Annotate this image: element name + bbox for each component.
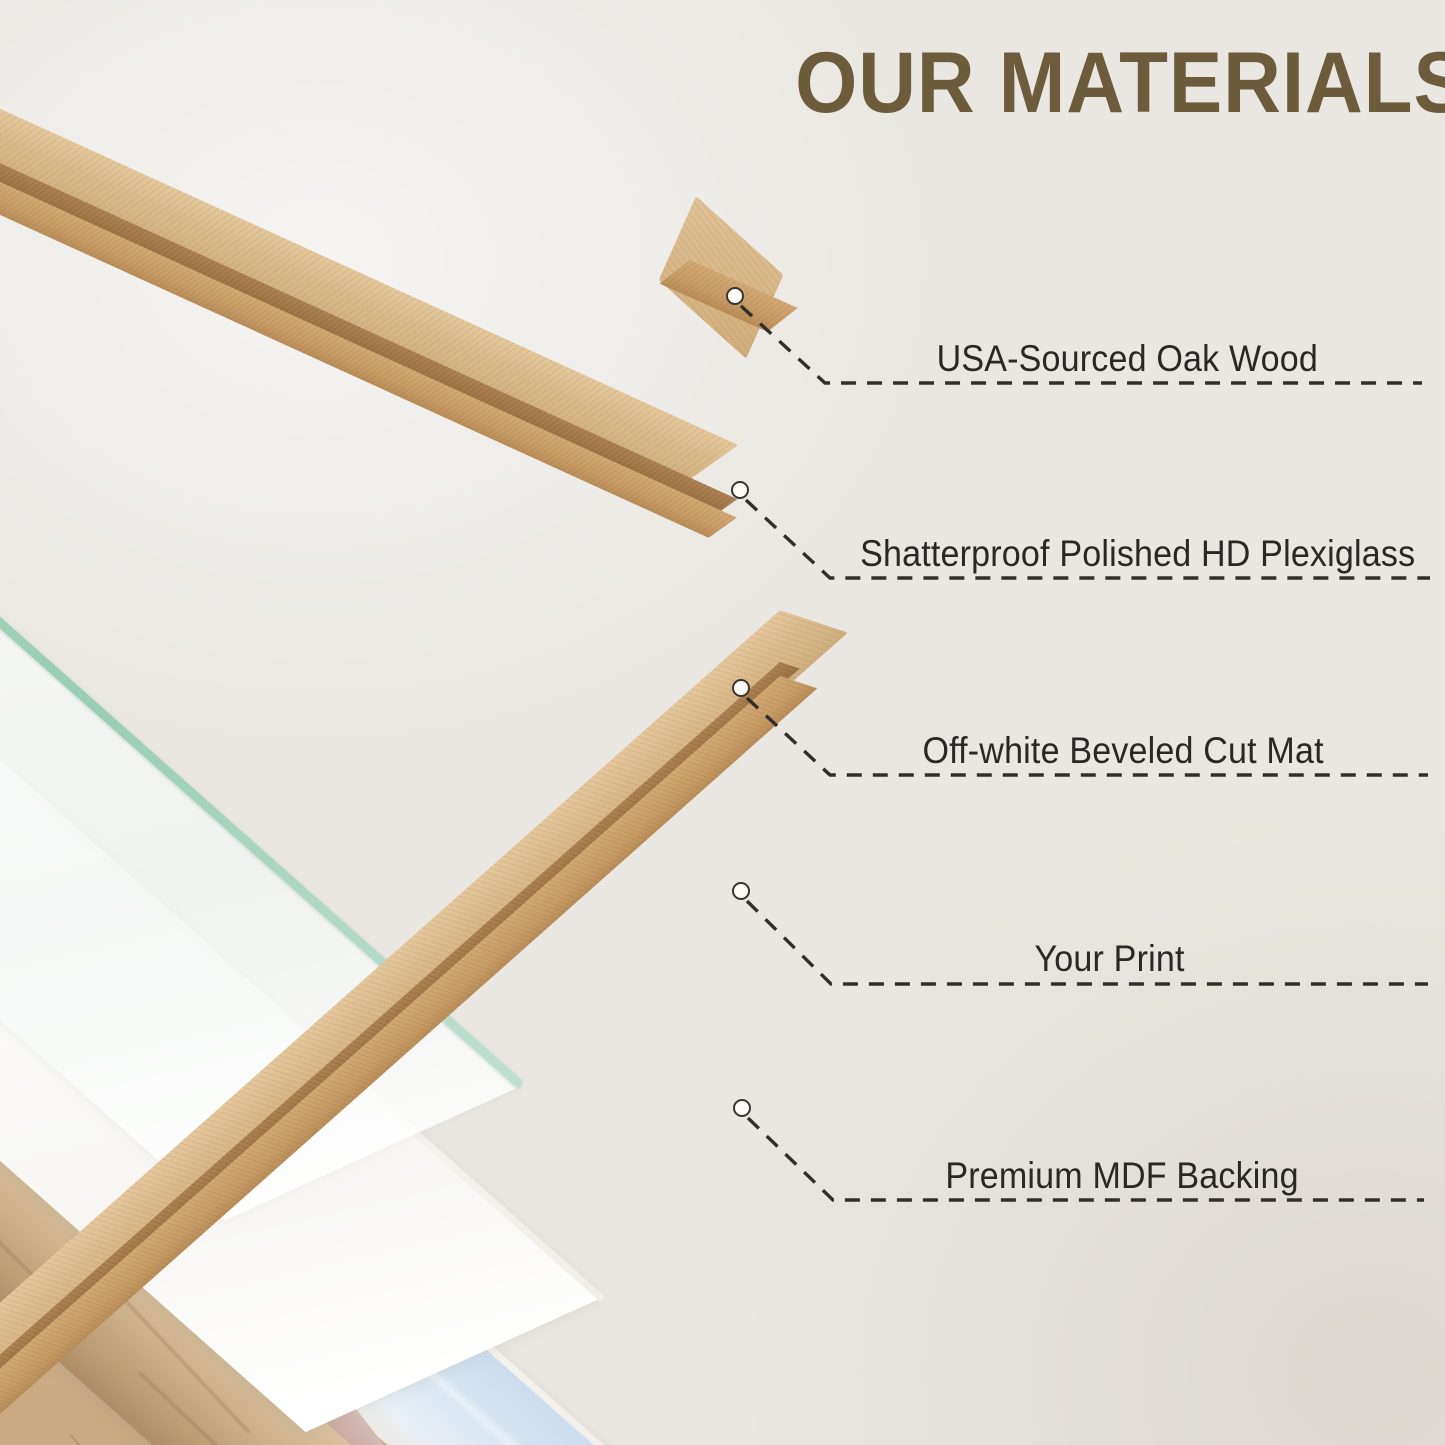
product-exploded-view bbox=[0, 0, 930, 1445]
callout-dot-plexiglass[interactable] bbox=[731, 481, 749, 499]
page-title: OUR MATERIALS bbox=[795, 40, 1409, 126]
infographic-canvas: OUR MATERIALS USA-Sourced Oak Wood Shatt… bbox=[0, 0, 1445, 1445]
callout-label-print: Your Print bbox=[1035, 938, 1185, 980]
callout-label-mdf-backing: Premium MDF Backing bbox=[945, 1155, 1298, 1197]
callout-label-plexiglass: Shatterproof Polished HD Plexiglass bbox=[860, 533, 1415, 575]
callout-label-oak-wood: USA-Sourced Oak Wood bbox=[937, 338, 1318, 380]
callout-label-mat: Off-white Beveled Cut Mat bbox=[922, 730, 1323, 772]
callout-dot-print[interactable] bbox=[732, 882, 750, 900]
callout-dot-mdf-backing[interactable] bbox=[733, 1099, 751, 1117]
callout-dot-oak-wood[interactable] bbox=[726, 287, 744, 305]
callout-dot-mat[interactable] bbox=[732, 679, 750, 697]
